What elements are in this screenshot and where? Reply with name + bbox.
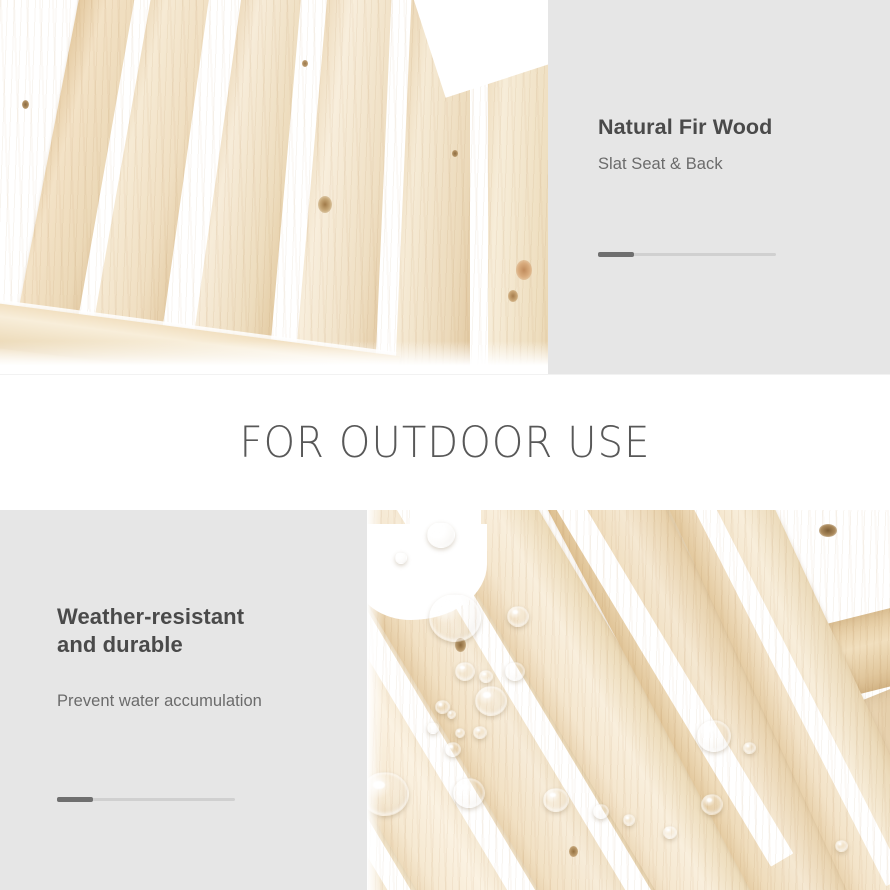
banner-headline: FOR OUTDOOR USE [239, 418, 650, 468]
wood-knot [302, 60, 308, 67]
water-droplet [475, 686, 507, 716]
bottom-panel-subtitle: Prevent water accumulation [57, 689, 357, 713]
water-droplet [835, 840, 848, 852]
water-droplet [663, 826, 677, 839]
water-droplet [543, 788, 569, 812]
bottom-panel-title-line-1: Weather-resistant [57, 603, 357, 631]
top-panel-accent-divider [598, 253, 776, 256]
water-droplet [455, 662, 475, 681]
water-droplet [427, 722, 439, 734]
wood-knot [22, 100, 29, 109]
water-droplet [701, 794, 723, 815]
outdoor-use-banner: FOR OUTDOOR USE [0, 375, 890, 510]
bottom-caption-text-block: Weather-resistant and durable Prevent wa… [57, 603, 357, 713]
top-panel-title: Natural Fir Wood [598, 114, 868, 141]
water-droplet [429, 594, 481, 642]
water-droplet [743, 742, 756, 754]
bottom-caption-panel: Weather-resistant and durable Prevent wa… [0, 510, 367, 890]
water-droplet [453, 778, 485, 808]
top-caption-panel: Natural Fir Wood Slat Seat & Back [548, 0, 890, 375]
water-droplet [445, 742, 461, 757]
top-caption-text-block: Natural Fir Wood Slat Seat & Back [598, 114, 868, 176]
infographic-page: Natural Fir Wood Slat Seat & Back FOR OU… [0, 0, 890, 890]
water-droplet [427, 522, 455, 548]
water-droplet [473, 726, 487, 739]
wood-knot [569, 846, 578, 857]
top-section: Natural Fir Wood Slat Seat & Back [0, 0, 890, 375]
water-droplet [593, 804, 609, 819]
wood-knot [516, 260, 532, 280]
water-droplet [479, 670, 493, 683]
water-droplet [395, 552, 407, 564]
water-droplet [455, 728, 465, 738]
water-droplet [623, 814, 635, 826]
photo-left-fade [367, 510, 383, 890]
wood-knot [318, 196, 332, 213]
bottom-panel-accent-divider [57, 798, 235, 801]
fir-slat-seat-back-photo [0, 0, 548, 375]
water-droplet [507, 606, 529, 627]
wood-knot [819, 524, 837, 537]
wood-knot [508, 290, 518, 302]
water-beading-on-slats-photo [367, 510, 890, 890]
top-panel-subtitle: Slat Seat & Back [598, 152, 868, 176]
water-droplet [697, 720, 731, 752]
water-droplet [505, 662, 525, 681]
photo-bottom-fade [0, 341, 548, 375]
bottom-panel-title-line-2: and durable [57, 631, 357, 659]
wood-knot [452, 150, 458, 157]
water-droplet [447, 710, 456, 719]
bottom-section: Weather-resistant and durable Prevent wa… [0, 510, 890, 890]
